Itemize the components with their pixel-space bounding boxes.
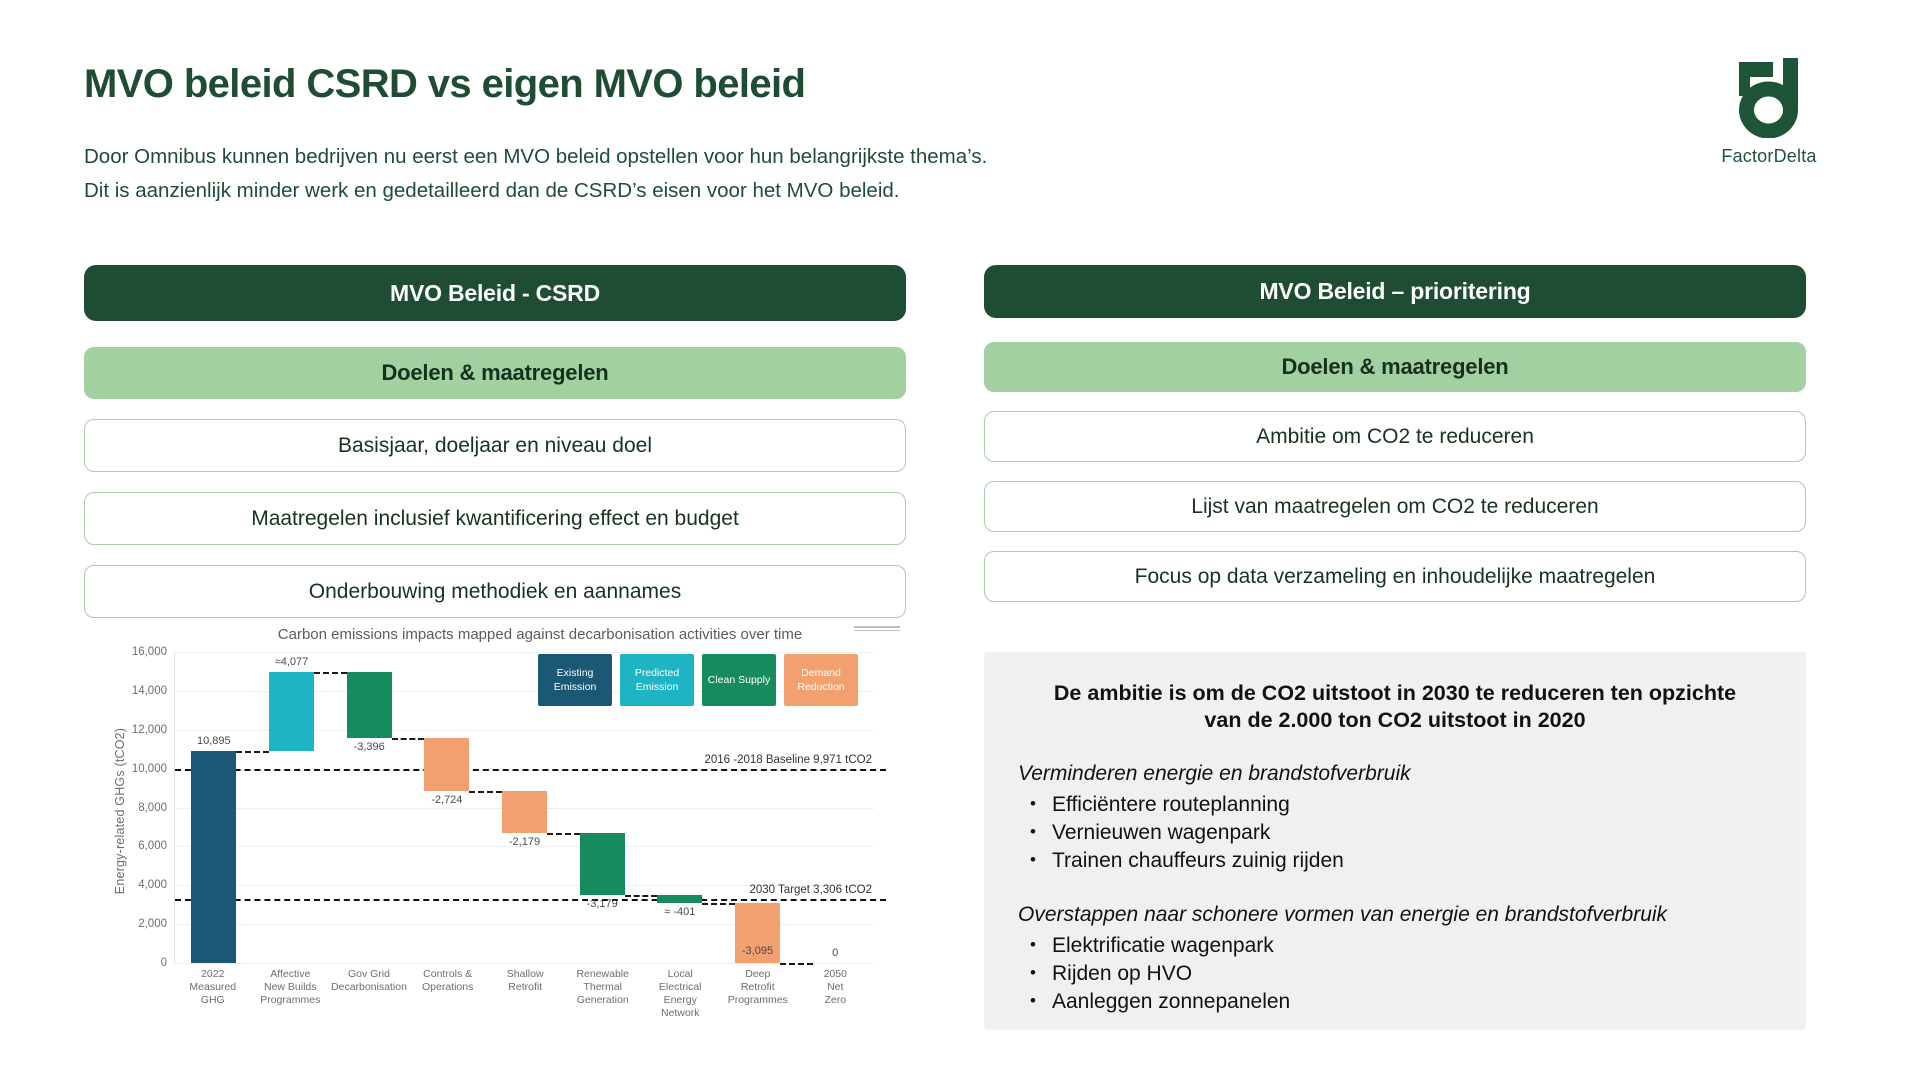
bar-value-label: -3,396 xyxy=(354,741,385,753)
ambition-panel: De ambitie is om de CO2 uitstoot in 2030… xyxy=(984,652,1806,1030)
legend-item: Existing Emission xyxy=(538,654,612,706)
x-axis-tick-label-line: Decarbonisation xyxy=(331,981,407,994)
waterfall-connector xyxy=(625,895,658,897)
bar-value-label: -2,724 xyxy=(431,794,462,806)
x-axis-tick-label-line: Energy xyxy=(643,994,717,1007)
x-axis-tick-label-line: Renewable xyxy=(566,968,640,981)
section-header-left: Doelen & maatregelen xyxy=(84,347,906,399)
factordelta-d-icon xyxy=(1733,56,1805,138)
x-axis-tick-label: ShallowRetrofit xyxy=(486,968,564,1020)
bullet-item: Aanleggen zonnepanelen xyxy=(1018,988,1772,1016)
list-item[interactable]: Onderbouwing methodiek en aannames xyxy=(84,565,906,618)
x-axis-tick-label-line: Electrical xyxy=(643,981,717,994)
x-axis-tick-label-line: Affective xyxy=(254,968,328,981)
waterfall-chart: Carbon emissions impacts mapped against … xyxy=(86,622,906,1032)
bullet-item: Elektrificatie wagenpark xyxy=(1018,932,1772,960)
x-axis-tick-label-line: Gov Grid xyxy=(331,968,407,981)
bar-value-label: -3,179 xyxy=(587,898,618,910)
x-axis-tick-label-line: Deep xyxy=(721,968,795,981)
chart-source-marks xyxy=(854,626,900,630)
x-axis-tick-label-line: Shallow xyxy=(488,968,562,981)
bullet-list: Efficiëntere routeplanning Vernieuwen wa… xyxy=(1018,791,1772,875)
bar-value-label: ≈ -401 xyxy=(664,906,695,918)
subtitle-line-2: Dit is aanzienlijk minder werk en gedeta… xyxy=(84,174,987,208)
x-axis-tick-label: DeepRetrofitProgrammes xyxy=(719,968,797,1020)
slide-root: MVO beleid CSRD vs eigen MVO beleid Door… xyxy=(0,0,1920,1080)
y-axis-tick-label: 4,000 xyxy=(138,879,175,891)
page-title: MVO beleid CSRD vs eigen MVO beleid xyxy=(84,62,805,107)
y-axis-tick-label: 0 xyxy=(161,957,175,969)
chart-bar xyxy=(269,672,314,751)
section-title: Verminderen energie en brandstofverbruik xyxy=(1018,760,1772,788)
logo-wordmark: FactorDelta xyxy=(1721,146,1816,167)
reference-line xyxy=(175,769,886,771)
x-axis-tick-label: RenewableThermalGeneration xyxy=(564,968,642,1020)
list-item[interactable]: Basisjaar, doeljaar en niveau doel xyxy=(84,419,906,472)
x-axis-tick-label-line: Network xyxy=(643,1007,717,1020)
chart-bar xyxy=(424,738,469,791)
section-title: Overstappen naar schonere vormen van ene… xyxy=(1018,901,1772,929)
bullet-item: Vernieuwen wagenpark xyxy=(1018,819,1772,847)
bar-value-label: 10,895 xyxy=(197,735,231,747)
page-subtitle: Door Omnibus kunnen bedrijven nu eerst e… xyxy=(84,140,987,208)
bar-value-label: 0 xyxy=(832,947,838,959)
chart-title: Carbon emissions impacts mapped against … xyxy=(86,626,906,643)
y-axis-tick-label: 12,000 xyxy=(132,724,175,736)
bar-value-label: ≈4,077 xyxy=(275,656,309,668)
ambition-heading: De ambitie is om de CO2 uitstoot in 2030… xyxy=(1018,680,1772,734)
y-axis-tick-label: 16,000 xyxy=(132,646,175,658)
chart-y-axis-title: Energy-related GHGs (tCO2) xyxy=(113,681,127,941)
x-axis-tick-label: LocalElectricalEnergyNetwork xyxy=(641,968,719,1020)
chart-bar xyxy=(191,751,236,963)
x-axis-tick-label-line: Measured xyxy=(176,981,250,994)
x-axis-tick-label-line: Operations xyxy=(411,981,485,994)
x-axis-tick-label: AffectiveNew BuildsProgrammes xyxy=(252,968,330,1020)
x-axis-tick-label-line: Controls & xyxy=(411,968,485,981)
y-axis-tick-label: 2,000 xyxy=(138,918,175,930)
x-axis-tick-label-line: Generation xyxy=(566,994,640,1007)
y-axis-tick-label: 10,000 xyxy=(132,763,175,775)
x-axis-tick-label: Controls &Operations xyxy=(409,968,487,1020)
x-axis-tick-label-line: Net xyxy=(799,981,873,994)
x-axis-tick-label-line: Programmes xyxy=(254,994,328,1007)
y-axis-tick-label: 6,000 xyxy=(138,840,175,852)
x-axis-tick-label-line: Zero xyxy=(799,994,873,1007)
reference-line-label: 2030 Target 3,306 tCO2 xyxy=(749,884,872,899)
ambition-heading-line-2: van de 2.000 ton CO2 uitstoot in 2020 xyxy=(1018,707,1772,734)
column-prioritering: MVO Beleid – prioritering Doelen & maatr… xyxy=(984,265,1806,602)
chart-bar xyxy=(502,791,547,833)
reference-line-label: 2016 -2018 Baseline 9,971 tCO2 xyxy=(704,754,872,769)
x-axis-tick-label: 2022MeasuredGHG xyxy=(174,968,252,1020)
y-axis-tick-label: 14,000 xyxy=(132,685,175,697)
bullet-list: Elektrificatie wagenpark Rijden op HVO A… xyxy=(1018,932,1772,1016)
ambition-section-2: Overstappen naar schonere vormen van ene… xyxy=(1018,901,1772,1016)
waterfall-connector xyxy=(236,751,269,753)
x-axis-tick-label-line: Retrofit xyxy=(488,981,562,994)
waterfall-connector xyxy=(469,791,502,793)
x-axis-tick-label: 2050NetZero xyxy=(797,968,875,1020)
chart-bar xyxy=(580,833,625,895)
gridline xyxy=(175,652,874,653)
x-axis-tick-label-line: Thermal xyxy=(566,981,640,994)
bar-value-label: -2,179 xyxy=(509,836,540,848)
subtitle-line-1: Door Omnibus kunnen bedrijven nu eerst e… xyxy=(84,140,987,174)
chart-bar xyxy=(657,895,702,903)
waterfall-connector xyxy=(392,738,425,740)
waterfall-connector xyxy=(314,672,347,674)
bar-value-label: -3,095 xyxy=(742,945,773,957)
y-axis-tick-label: 8,000 xyxy=(138,802,175,814)
chart-legend: Existing EmissionPredicted EmissionClean… xyxy=(538,654,858,706)
reference-line xyxy=(175,899,886,901)
x-axis-tick-label-line: GHG xyxy=(176,994,250,1007)
x-axis-tick-label-line: Programmes xyxy=(721,994,795,1007)
legend-item: Predicted Emission xyxy=(620,654,694,706)
list-item[interactable]: Focus op data verzameling en inhoudelijk… xyxy=(984,551,1806,602)
x-axis-tick-label-line: New Builds xyxy=(254,981,328,994)
bullet-item: Trainen chauffeurs zuinig rijden xyxy=(1018,847,1772,875)
legend-item: Clean Supply xyxy=(702,654,776,706)
x-axis-tick-label: Gov GridDecarbonisation xyxy=(329,968,409,1020)
bullet-item: Efficiëntere routeplanning xyxy=(1018,791,1772,819)
brand-logo: FactorDelta xyxy=(1674,56,1864,167)
list-item[interactable]: Lijst van maatregelen om CO2 te reducere… xyxy=(984,481,1806,532)
ambition-section-1: Verminderen energie en brandstofverbruik… xyxy=(1018,760,1772,875)
x-axis-tick-label-line: 2050 xyxy=(799,968,873,981)
x-axis-tick-label-line: 2022 xyxy=(176,968,250,981)
column-header-csrd: MVO Beleid - CSRD xyxy=(84,265,906,321)
ambition-heading-line-1: De ambitie is om de CO2 uitstoot in 2030… xyxy=(1018,680,1772,707)
waterfall-connector xyxy=(702,903,735,905)
x-axis-tick-label-line: Retrofit xyxy=(721,981,795,994)
chart-bar xyxy=(347,672,392,738)
legend-item: Demand Reduction xyxy=(784,654,858,706)
list-item[interactable]: Ambitie om CO2 te reduceren xyxy=(984,411,1806,462)
list-item[interactable]: Maatregelen inclusief kwantificering eff… xyxy=(84,492,906,545)
gridline xyxy=(175,963,874,964)
section-header-right: Doelen & maatregelen xyxy=(984,342,1806,392)
waterfall-connector xyxy=(780,963,813,965)
column-header-prioritering: MVO Beleid – prioritering xyxy=(984,265,1806,318)
x-axis-tick-label-line: Local xyxy=(643,968,717,981)
column-csrd: MVO Beleid - CSRD Doelen & maatregelen B… xyxy=(84,265,906,618)
chart-x-axis-labels: 2022MeasuredGHGAffectiveNew BuildsProgra… xyxy=(174,968,874,1020)
bullet-item: Rijden op HVO xyxy=(1018,960,1772,988)
waterfall-connector xyxy=(547,833,580,835)
